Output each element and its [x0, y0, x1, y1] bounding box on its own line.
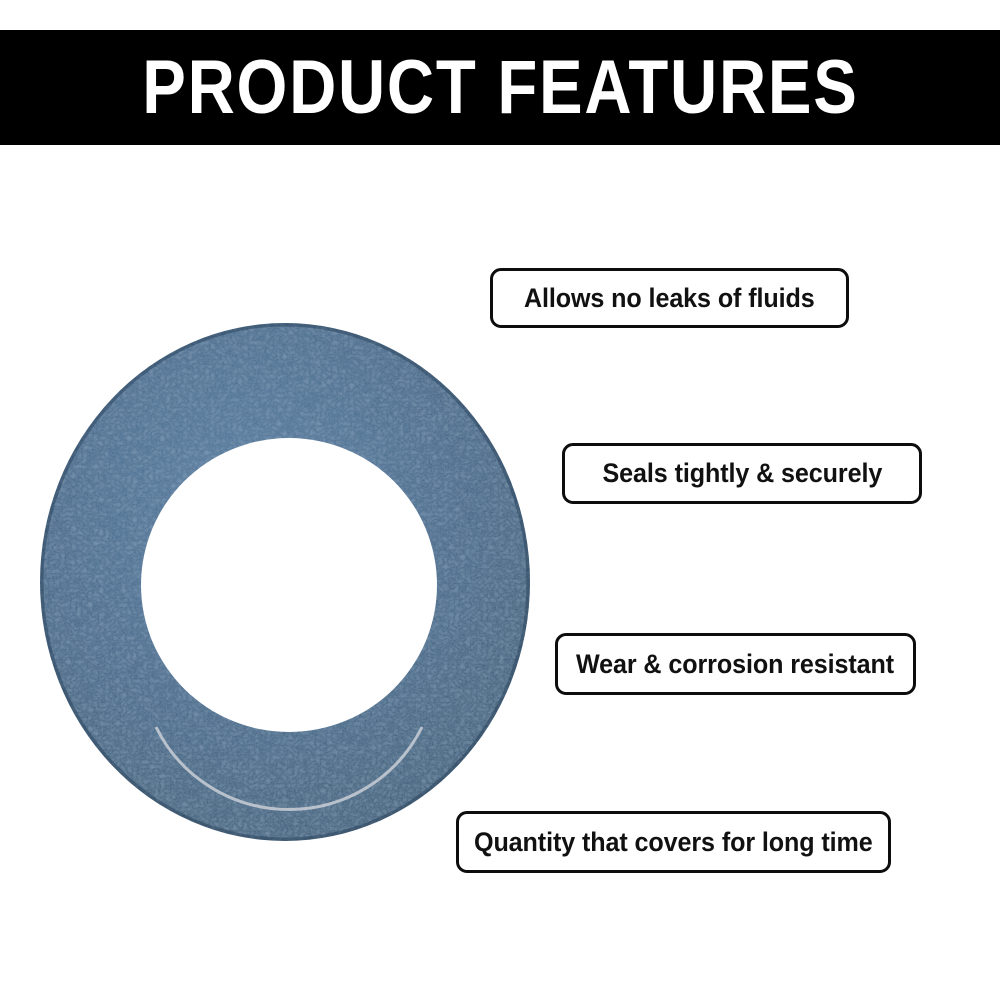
page-title: PRODUCT FEATURES: [142, 50, 858, 126]
product-image-washer: [38, 322, 534, 844]
product-features-infographic: PRODUCT FEATURES: [0, 0, 1000, 1000]
feature-box-3[interactable]: Wear & corrosion resistant: [555, 633, 916, 695]
feature-label-3: Wear & corrosion resistant: [576, 651, 894, 678]
feature-box-4[interactable]: Quantity that covers for long time: [456, 811, 891, 873]
feature-label-1: Allows no leaks of fluids: [524, 285, 815, 312]
feature-label-2: Seals tightly & securely: [602, 460, 882, 487]
header-banner: PRODUCT FEATURES: [0, 30, 1000, 145]
feature-box-2[interactable]: Seals tightly & securely: [562, 443, 922, 504]
feature-label-4: Quantity that covers for long time: [474, 829, 873, 856]
washer-ring-graphic: [38, 322, 534, 844]
feature-box-1[interactable]: Allows no leaks of fluids: [490, 268, 849, 328]
